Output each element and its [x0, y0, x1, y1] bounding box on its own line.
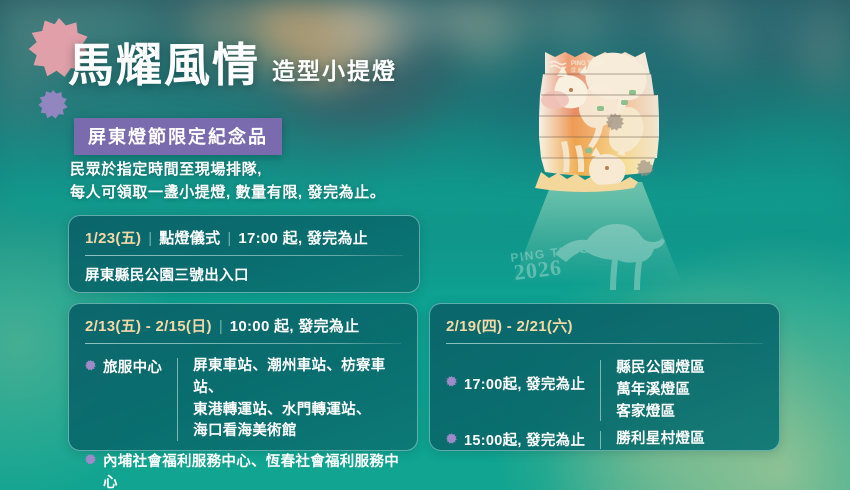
lantern-logo-text: PING TUNG — [571, 61, 605, 67]
card-time: 10:00 起, 發完為止 — [230, 315, 360, 336]
card-header: 1/23(五) | 點燈儀式 | 17:00 起, 發完為止 — [69, 216, 419, 248]
list-item-values: 屏東車站、潮州車站、枋寮車站、 東港轉運站、水門轉運站、 海口看海美術館 — [193, 356, 401, 443]
flower-bullet-icon — [85, 454, 96, 465]
page-title: 馬耀風情 — [68, 43, 260, 89]
info-card-feb-13-15[interactable]: 2/13(五) - 2/15(日) | 10:00 起, 發完為止 旅服中心 屏… — [68, 303, 418, 451]
value-line: 海口看海美術館 — [193, 421, 401, 443]
card-body: 17:00起, 發完為止 縣民公園燈區 萬年溪燈區 客家燈區 15:00起, 發… — [430, 344, 779, 451]
card-header: 2/13(五) - 2/15(日) | 10:00 起, 發完為止 — [69, 304, 417, 336]
headline-group: 馬耀風情 造型小提燈 — [68, 43, 397, 89]
list-item-values: 縣民公園燈區 萬年溪燈區 客家燈區 — [616, 358, 705, 423]
lantern-logo-sub: 屏 東 — [571, 67, 582, 74]
list-item-divider — [600, 360, 601, 421]
card-separator: | — [219, 318, 223, 335]
card-date: 2/13(五) - 2/15(日) — [85, 315, 212, 336]
card-event-name: 點燈儀式 — [159, 227, 220, 248]
lantern-illustration: PING TUNG 屏 東 PING TUNG 2026 — [497, 22, 697, 312]
lantern-svg: PING TUNG 屏 東 PING TUNG 2026 — [497, 22, 697, 312]
list-item-label: 17:00起, 發完為止 — [464, 373, 585, 394]
value-line: 縣民公園燈區 — [616, 358, 705, 380]
value-line: 萬年溪燈區 — [616, 380, 705, 402]
poster-root: 馬耀風情 造型小提燈 屏東燈節限定紀念品 民眾於指定時間至現場排隊, 每人可領取… — [0, 0, 850, 490]
value-line: 東港轉運站、水門轉運站、 — [193, 400, 401, 422]
card-body: 旅服中心 屏東車站、潮州車站、枋寮車站、 東港轉運站、水門轉運站、 海口看海美術… — [69, 344, 417, 490]
flower-bullet-icon — [446, 376, 457, 387]
list-item: 內埔社會福利服務中心、恆春社會福利服務中心 — [85, 450, 401, 490]
card-separator-2: | — [227, 230, 231, 247]
card-time: 17:00 起, 發完為止 — [238, 227, 368, 248]
list-item-label: 15:00起, 發完為止 — [464, 429, 585, 450]
card-body: 屏東縣民公園三號出入口 — [69, 256, 419, 285]
list-item-divider — [177, 358, 178, 441]
list-item-label: 內埔社會福利服務中心、恆春社會福利服務中心 — [103, 450, 401, 490]
list-item: 17:00起, 發完為止 縣民公園燈區 萬年溪燈區 客家燈區 — [446, 358, 763, 423]
info-card-feb-19-21[interactable]: 2/19(四) - 2/21(六) 17:00起, 發完為止 縣民公園燈區 萬年… — [429, 303, 780, 451]
description-line-1: 民眾於指定時間至現場排隊, — [70, 158, 385, 181]
description-text: 民眾於指定時間至現場排隊, 每人可領取一盞小提燈, 數量有限, 發完為止。 — [70, 158, 385, 205]
list-item: 旅服中心 屏東車站、潮州車站、枋寮車站、 東港轉運站、水門轉運站、 海口看海美術… — [85, 356, 401, 443]
list-item-label: 旅服中心 — [103, 356, 162, 377]
value-line: 屏東車站、潮州車站、枋寮車站、 — [193, 356, 401, 400]
info-card-ceremony[interactable]: 1/23(五) | 點燈儀式 | 17:00 起, 發完為止 屏東縣民公園三號出… — [68, 215, 420, 293]
flower-bullet-icon — [85, 360, 96, 371]
list-item-values: 勝利星村燈區 — [616, 429, 705, 451]
card-separator: | — [148, 230, 152, 247]
page-subtitle: 造型小提燈 — [272, 52, 397, 89]
value-line: 勝利星村燈區 — [616, 429, 705, 451]
card-date: 2/19(四) - 2/21(六) — [446, 315, 573, 336]
value-line: 客家燈區 — [616, 402, 705, 424]
list-item: 15:00起, 發完為止 勝利星村燈區 — [446, 429, 763, 451]
card-date: 1/23(五) — [85, 227, 141, 248]
card-venue: 屏東縣民公園三號出入口 — [85, 264, 403, 285]
status-badge: 屏東燈節限定紀念品 — [74, 118, 282, 155]
description-line-2: 每人可領取一盞小提燈, 數量有限, 發完為止。 — [70, 181, 385, 204]
card-header: 2/19(四) - 2/21(六) — [430, 304, 779, 336]
flower-bullet-icon — [446, 433, 457, 444]
list-item-divider — [600, 431, 601, 449]
